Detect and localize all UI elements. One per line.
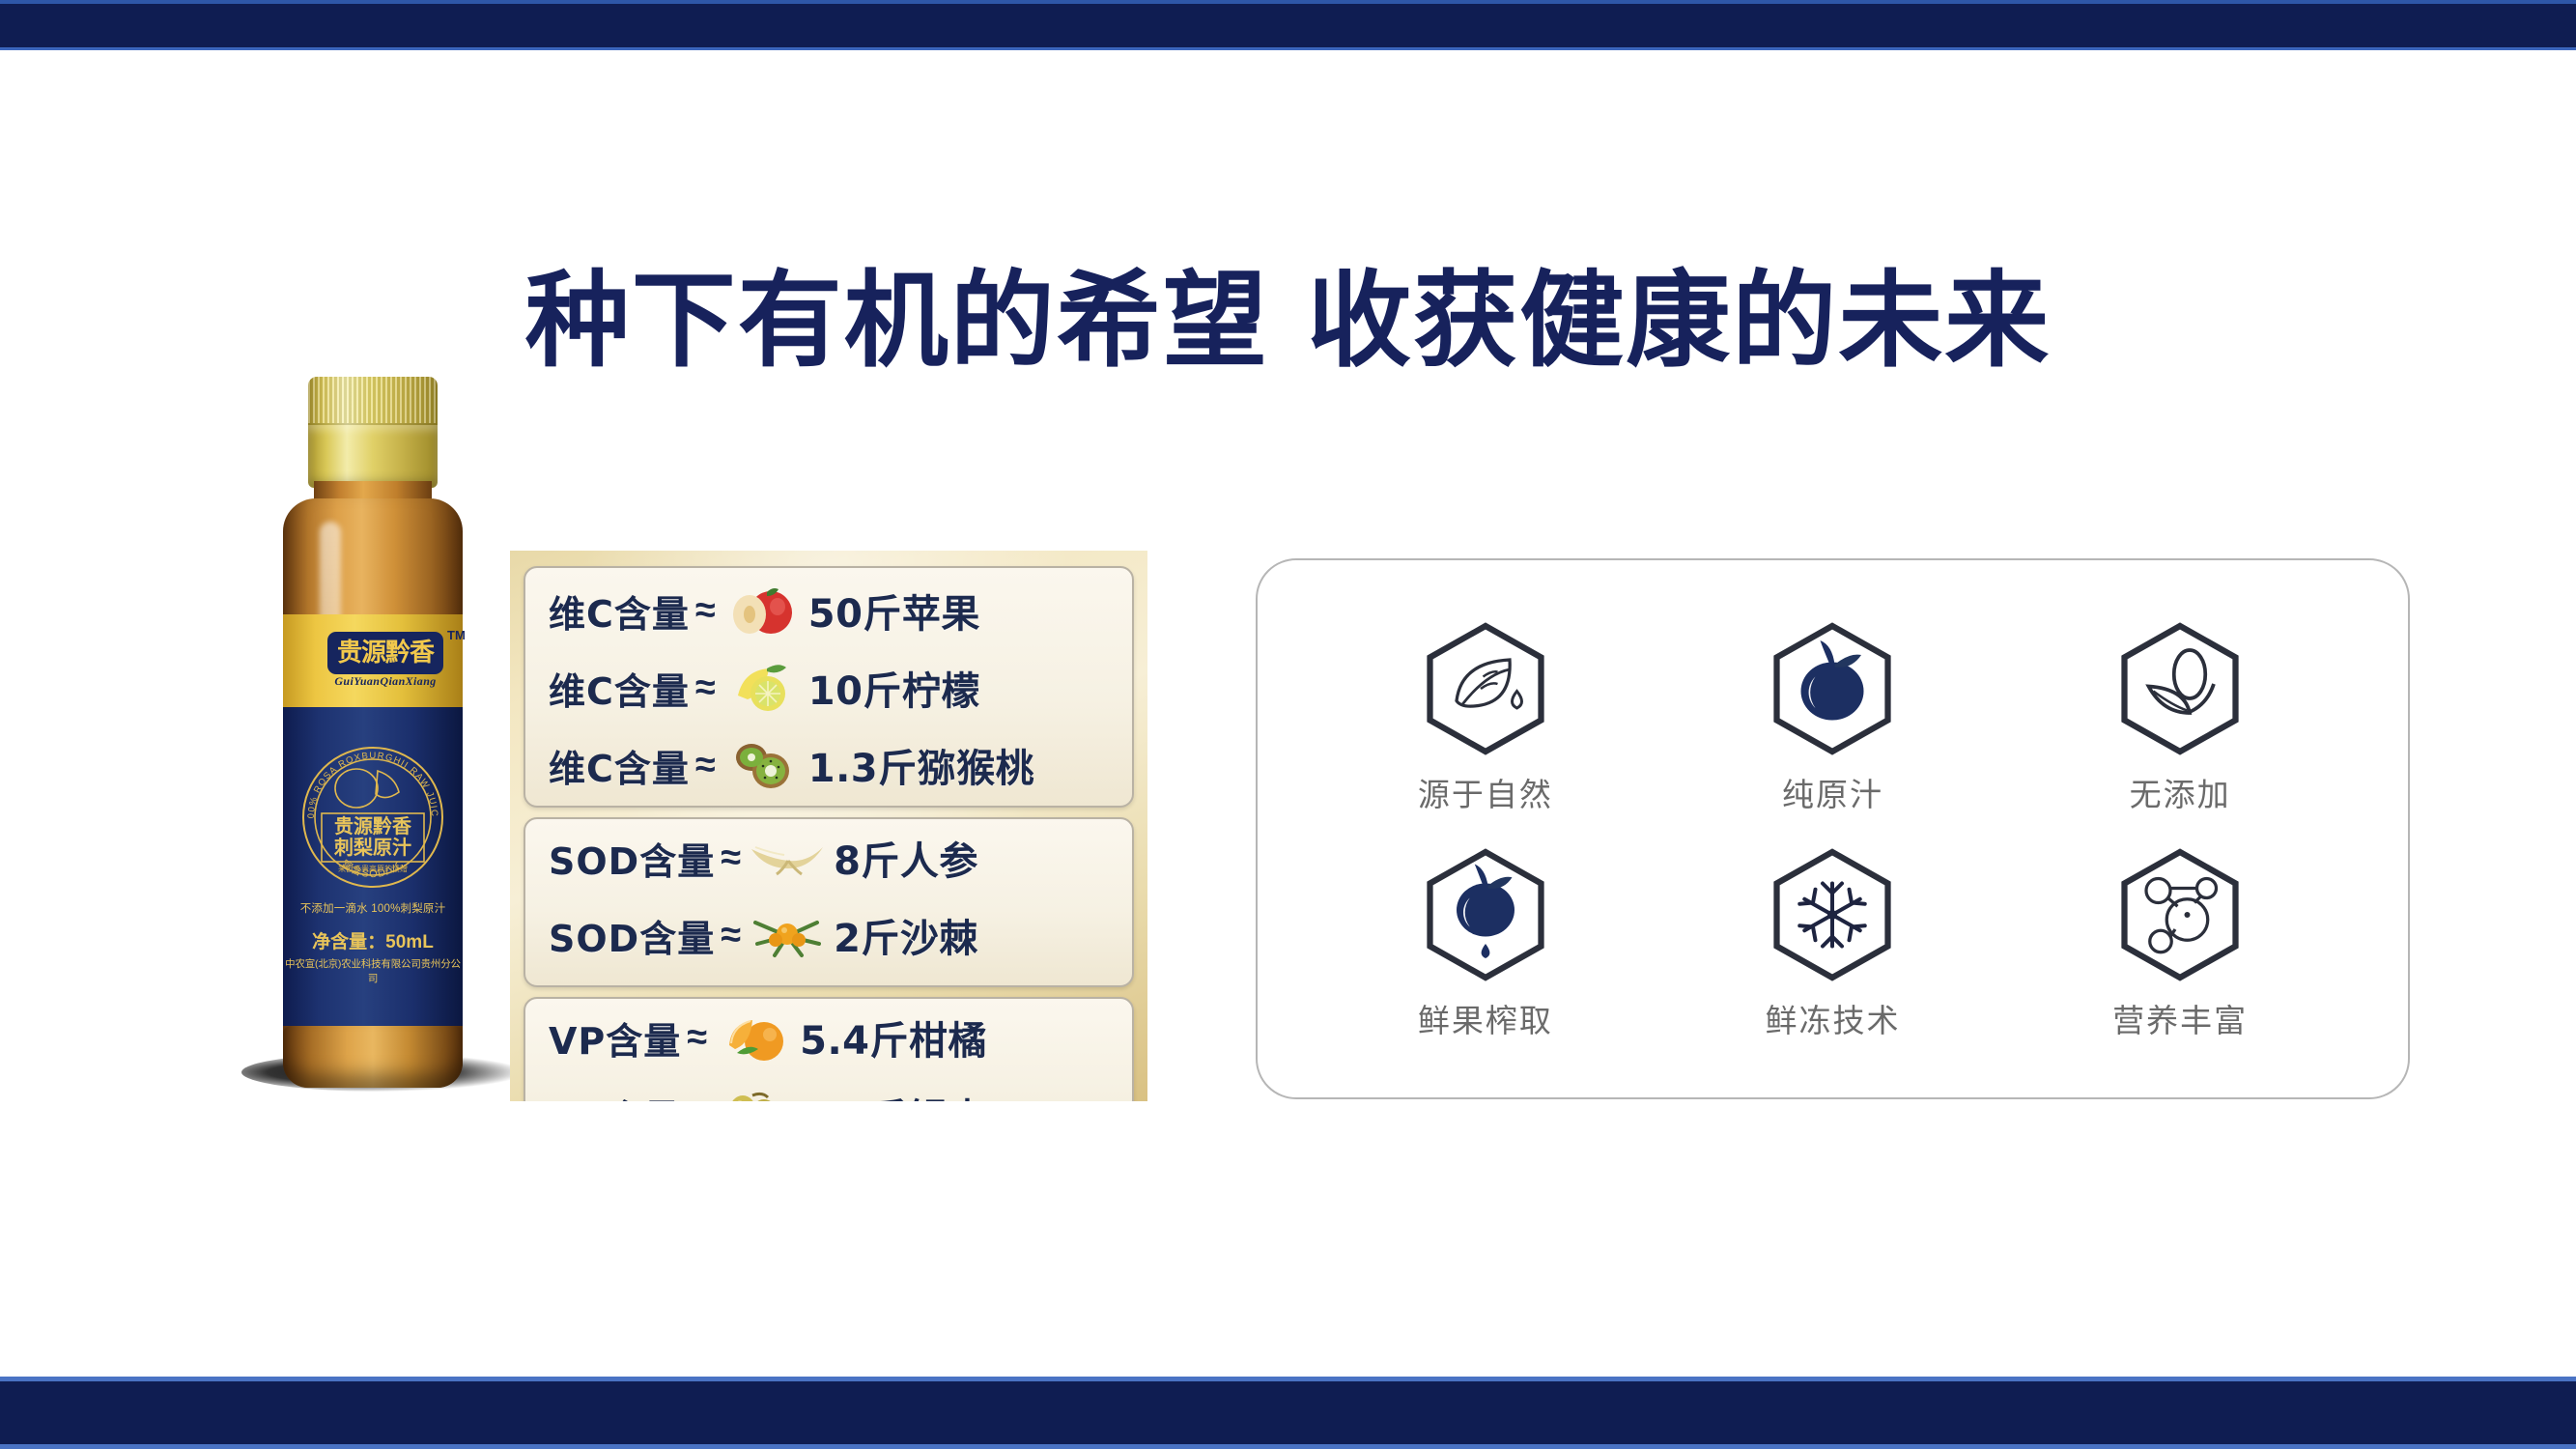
brand-name-cn: 贵源黔香 — [337, 640, 434, 666]
top-navy-bar — [0, 0, 2576, 50]
ginseng-icon — [741, 828, 834, 888]
feature-label: 纯原汁 — [1782, 769, 1883, 815]
kiwi-icon — [716, 735, 808, 795]
svg-text:刺梨原汁: 刺梨原汁 — [334, 836, 411, 859]
feature-label: 源于自然 — [1418, 769, 1553, 815]
row-label: 维C含量 — [549, 662, 690, 715]
row-label: 维C含量 — [549, 739, 690, 792]
feature-label: 无添加 — [2130, 769, 2231, 815]
approx-sign: ≈ — [695, 590, 716, 632]
approx-sign: ≈ — [687, 1094, 707, 1102]
fruit-juice-drop-icon — [1413, 842, 1558, 987]
features-panel: 源于自然 纯原汁 — [1256, 558, 2410, 1099]
feature-item-freeze-tech[interactable]: 鲜冻技术 — [1659, 829, 2007, 1055]
comparison-row: 维C含量 ≈ 10斤柠檬 — [525, 649, 1132, 726]
no-water-claim: 不添加一滴水 100%刺梨原汁 — [283, 900, 463, 916]
seabuckthorn-icon — [741, 905, 834, 965]
row-value: 8斤人参 — [834, 830, 978, 886]
feature-label: 鲜果榨取 — [1418, 995, 1553, 1041]
company-name: 中农宣(北京)农业科技有限公司贵州分公司 — [283, 956, 463, 985]
feature-item-nutrition-rich[interactable]: 营养丰富 — [2006, 829, 2354, 1055]
bottle-emblem-icon: 100% ROSA ROXBURGHII RAW JUICE 贵源黔香 刺梨原汁… — [297, 724, 449, 889]
row-value: 1.5斤银杏 — [800, 1087, 987, 1101]
fruit-filled-icon — [1760, 616, 1905, 761]
row-label: VP含量 — [549, 1011, 681, 1065]
row-label: VP含量 — [549, 1089, 681, 1102]
citrus-icon — [707, 1008, 800, 1067]
row-label: SOD含量 — [549, 832, 715, 885]
approx-sign: ≈ — [695, 745, 716, 786]
comparison-card-vp: VP含量 ≈ 5.4斤柑橘 VP含量 ≈ — [524, 997, 1134, 1101]
bottle-cap — [308, 377, 438, 486]
bottom-navy-bar — [0, 1377, 2576, 1449]
row-value: 2斤沙棘 — [834, 907, 978, 963]
bottle-base — [283, 1026, 463, 1088]
brand-name-pinyin: GuiYuanQianXiang — [327, 674, 443, 689]
molecule-icon — [2108, 842, 2252, 987]
leaf-droplet-icon — [1413, 616, 1558, 761]
comparison-row: 维C含量 ≈ 50斤苹果 — [525, 572, 1132, 649]
comparison-card-sod: SOD含量 ≈ 8斤人参 SOD含量 ≈ — [524, 817, 1134, 987]
trademark-mark: TM — [447, 628, 466, 642]
bottle-label-top: 贵源黔香 GuiYuanQianXiang TM — [283, 614, 463, 707]
feature-item-fresh-pressed[interactable]: 鲜果榨取 — [1312, 829, 1659, 1055]
comparison-row: 维C含量 ≈ — [525, 726, 1132, 804]
row-label: SOD含量 — [549, 909, 715, 962]
comparison-row: SOD含量 ≈ 2斤沙棘 — [525, 896, 1132, 974]
bottle-label-main: 100% ROSA ROXBURGHII RAW JUICE 贵源黔香 刺梨原汁… — [283, 707, 463, 1026]
row-label: 维C含量 — [549, 584, 690, 638]
feature-item-pure-juice[interactable]: 纯原汁 — [1659, 603, 2007, 829]
snowflake-icon — [1760, 842, 1905, 987]
approx-sign: ≈ — [687, 1017, 707, 1059]
approx-sign: ≈ — [721, 915, 741, 956]
features-grid: 源于自然 纯原汁 — [1312, 603, 2354, 1055]
seed-leaf-icon — [2108, 616, 2252, 761]
lemon-icon — [716, 658, 808, 718]
page-title: 种下有机的希望 收获健康的未来 — [0, 237, 2576, 387]
brand-badge: 贵源黔香 — [327, 632, 443, 674]
svg-text:贵源黔香: 贵源黔香 — [334, 814, 412, 838]
comparison-row: VP含量 ≈ 5.4斤柑橘 — [525, 999, 1132, 1076]
feature-label: 营养丰富 — [2112, 995, 2248, 1041]
row-value: 10斤柠檬 — [808, 660, 980, 716]
ginkgo-icon — [707, 1085, 800, 1101]
comparison-card-vitamin-c: 维C含量 ≈ 50斤苹果 维C含量 ≈ — [524, 566, 1134, 808]
product-bottle: 贵源黔香 GuiYuanQianXiang TM 100 — [266, 377, 478, 1140]
nutrition-comparison-panel: 维C含量 ≈ 50斤苹果 维C含量 ≈ — [510, 551, 1147, 1101]
row-value: 1.3斤猕猴桃 — [808, 737, 1034, 793]
feature-label: 鲜冻技术 — [1765, 995, 1900, 1041]
net-content: 净含量：50mL — [283, 927, 463, 953]
approx-sign: ≈ — [721, 838, 741, 879]
row-value: 5.4斤柑橘 — [800, 1009, 987, 1065]
feature-item-natural[interactable]: 源于自然 — [1312, 603, 1659, 829]
approx-sign: ≈ — [695, 668, 716, 709]
row-value: 50斤苹果 — [808, 582, 980, 639]
slide-canvas: 种下有机的希望 收获健康的未来 贵源黔香 GuiYuanQianXiang TM — [0, 0, 2576, 1449]
feature-item-no-additives[interactable]: 无添加 — [2006, 603, 2354, 829]
apple-icon — [716, 581, 808, 640]
comparison-row: VP含量 ≈ 1.5斤银杏 — [525, 1076, 1132, 1101]
comparison-row: SOD含量 ≈ 8斤人参 — [525, 819, 1132, 896]
